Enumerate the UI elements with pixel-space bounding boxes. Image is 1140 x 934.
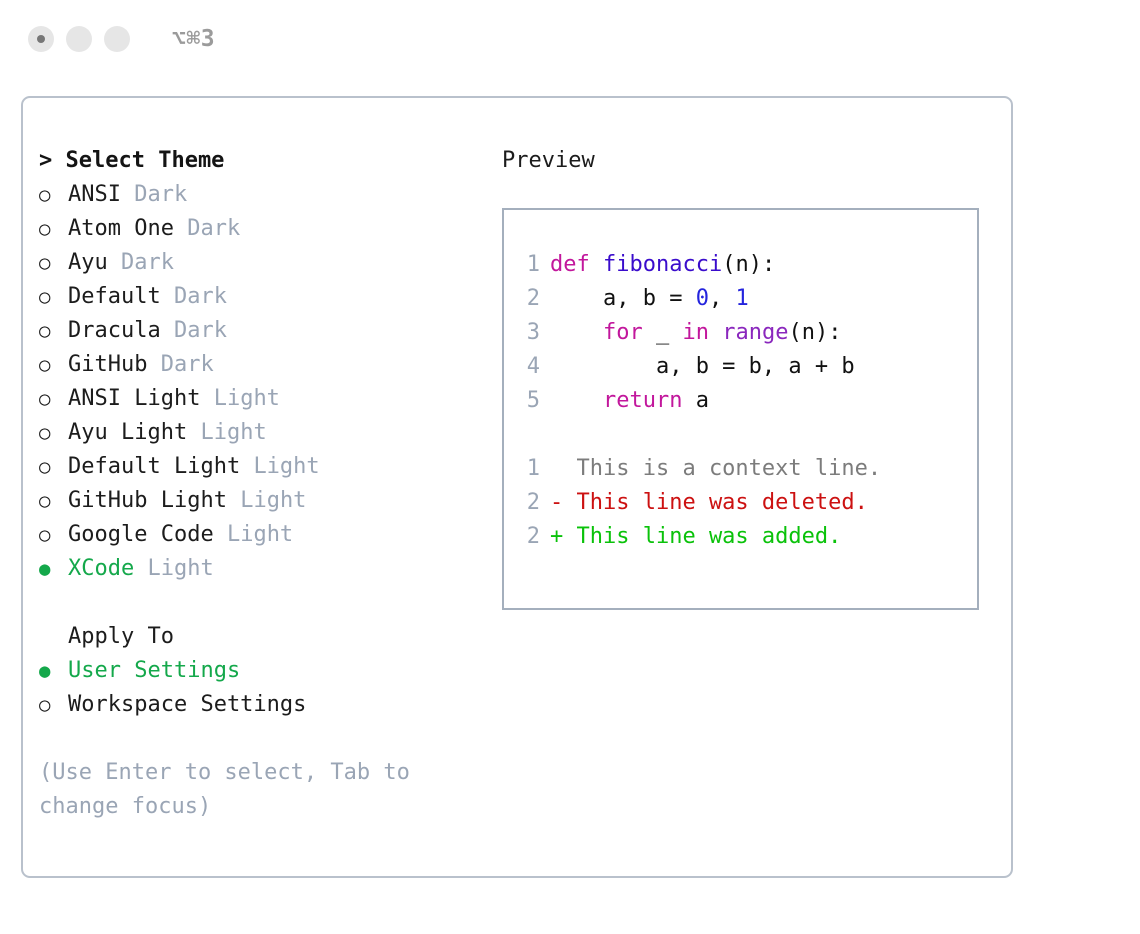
keyboard-hint-text: (Use Enter to select, Tab to change focu… [39,756,459,824]
code-line: 5 return a [504,384,977,418]
theme-option-name: GitHub Light [68,484,227,518]
theme-option-name: XCode [68,552,134,586]
preview-column: Preview 1def fibonacci(n):2 a, b = 0, 13… [502,144,992,610]
radio-unselected-icon: ○ [39,382,68,416]
code-token-plain: _ [643,320,683,345]
radio-unselected-icon: ○ [39,688,68,722]
theme-option-spacer [121,178,134,212]
diff-line-number: 2 [504,486,550,520]
diff-line-ctx: 1 This is a context line. [504,452,977,486]
window-dot-active-icon[interactable] [28,26,54,52]
preview-box: 1def fibonacci(n):2 a, b = 0, 13 for _ i… [502,208,979,610]
code-token-plain: a [682,388,709,413]
apply-to-option-name: Workspace Settings [68,688,306,722]
theme-option-kind: Dark [121,246,174,280]
theme-option-kind: Dark [187,212,240,246]
theme-option-spacer [227,484,240,518]
theme-option-ansi[interactable]: ○ANSI Dark [39,178,509,212]
code-line-number: 5 [504,384,550,418]
theme-option-spacer [134,552,147,586]
code-token-num: 0 [696,286,709,311]
code-token-pun: , [709,286,736,311]
select-theme-header: > Select Theme [39,144,509,178]
code-line-text: def fibonacci(n): [550,248,775,282]
code-token-pun: (n): [788,320,841,345]
apply-to-option-name: User Settings [68,654,240,688]
theme-option-spacer [214,518,227,552]
code-line-text: a, b = b, a + b [550,350,855,384]
section-spacer [39,586,509,620]
theme-option-github[interactable]: ○GitHub Dark [39,348,509,382]
theme-option-kind: Light [147,552,213,586]
theme-list[interactable]: ○ANSI Dark○Atom One Dark○Ayu Dark○Defaul… [39,178,509,586]
theme-option-google-code[interactable]: ○Google Code Light [39,518,509,552]
code-token-kw: for [603,320,643,345]
diff-sample: 1 This is a context line.2- This line wa… [504,452,977,554]
theme-option-name: ANSI Light [68,382,200,416]
theme-option-kind: Light [227,518,293,552]
code-token-pun: (n): [722,252,775,277]
code-line: 1def fibonacci(n): [504,248,977,282]
window-dot-second-icon[interactable] [66,26,92,52]
theme-option-spacer [108,246,121,280]
diff-line-text: + This line was added. [550,520,841,554]
title-bar: ⌥⌘3 [0,0,1140,78]
code-token-fn: fibonacci [603,252,722,277]
code-token-num: 1 [735,286,748,311]
radio-unselected-icon: ○ [39,280,68,314]
theme-option-ayu[interactable]: ○Ayu Dark [39,246,509,280]
theme-option-kind: Dark [134,178,187,212]
radio-unselected-icon: ○ [39,246,68,280]
diff-line-number: 1 [504,452,550,486]
app-window: ⌥⌘3 > Select Theme ○ANSI Dark○Atom One D… [0,0,1140,934]
theme-option-name: ANSI [68,178,121,212]
code-token-plain [550,320,603,345]
code-line-text: return a [550,384,709,418]
theme-option-default[interactable]: ○Default Dark [39,280,509,314]
code-line: 2 a, b = 0, 1 [504,282,977,316]
theme-option-name: GitHub [68,348,147,382]
theme-option-ansi-light[interactable]: ○ANSI Light Light [39,382,509,416]
theme-option-default-light[interactable]: ○Default Light Light [39,450,509,484]
code-token-plain: a, b = [550,286,696,311]
theme-option-xcode[interactable]: ●XCode Light [39,552,509,586]
theme-selector-column: > Select Theme ○ANSI Dark○Atom One Dark○… [39,144,509,824]
window-dot-third-icon[interactable] [104,26,130,52]
main-panel: > Select Theme ○ANSI Dark○Atom One Dark○… [21,96,1013,878]
theme-option-kind: Light [240,484,306,518]
code-token-plain: a, b = b, a + b [550,354,855,379]
apply-to-option-workspace-settings[interactable]: ○Workspace Settings [39,688,509,722]
apply-to-list[interactable]: ●User Settings○Workspace Settings [39,654,509,722]
preview-gap [504,418,977,452]
theme-option-kind: Dark [161,348,214,382]
keyboard-shortcut-label: ⌥⌘3 [172,28,215,51]
code-token-kw: in [682,320,709,345]
radio-selected-icon: ● [39,552,68,586]
theme-option-dracula[interactable]: ○Dracula Dark [39,314,509,348]
code-token-kw: def [550,252,603,277]
theme-option-spacer [147,348,160,382]
radio-unselected-icon: ○ [39,314,68,348]
theme-option-github-light[interactable]: ○GitHub Light Light [39,484,509,518]
theme-option-spacer [161,280,174,314]
theme-option-ayu-light[interactable]: ○Ayu Light Light [39,416,509,450]
theme-option-spacer [161,314,174,348]
theme-option-spacer [200,382,213,416]
code-token-call: range [722,320,788,345]
theme-option-name: Default [68,280,161,314]
theme-option-atom-one[interactable]: ○Atom One Dark [39,212,509,246]
preview-title: Preview [502,144,992,178]
theme-option-kind: Dark [174,314,227,348]
apply-to-option-user-settings[interactable]: ●User Settings [39,654,509,688]
diff-line-text: This is a context line. [550,452,881,486]
code-line-number: 4 [504,350,550,384]
code-line-text: for _ in range(n): [550,316,841,350]
diff-line-number: 2 [504,520,550,554]
radio-selected-icon: ● [39,654,68,688]
apply-to-header: Apply To [39,620,509,654]
code-line: 4 a, b = b, a + b [504,350,977,384]
code-line: 3 for _ in range(n): [504,316,977,350]
theme-option-name: Google Code [68,518,214,552]
theme-option-spacer [187,416,200,450]
window-dot-active-inner-icon [37,35,45,43]
code-line-number: 2 [504,282,550,316]
code-line-number: 1 [504,248,550,282]
theme-option-name: Dracula [68,314,161,348]
theme-option-kind: Light [253,450,319,484]
code-token-kw: return [603,388,682,413]
diff-line-text: - This line was deleted. [550,486,868,520]
code-line-text: a, b = 0, 1 [550,282,749,316]
radio-unselected-icon: ○ [39,518,68,552]
diff-line-add: 2+ This line was added. [504,520,977,554]
theme-option-spacer [240,450,253,484]
theme-option-name: Default Light [68,450,240,484]
diff-line-del: 2- This line was deleted. [504,486,977,520]
code-token-plain [709,320,722,345]
theme-option-name: Ayu [68,246,108,280]
window-controls [28,26,130,52]
theme-option-name: Ayu Light [68,416,187,450]
theme-option-kind: Light [214,382,280,416]
radio-unselected-icon: ○ [39,484,68,518]
code-sample: 1def fibonacci(n):2 a, b = 0, 13 for _ i… [504,248,977,418]
code-line-number: 3 [504,316,550,350]
theme-option-name: Atom One [68,212,174,246]
theme-option-kind: Light [200,416,266,450]
code-token-plain [550,388,603,413]
radio-unselected-icon: ○ [39,450,68,484]
theme-option-spacer [174,212,187,246]
radio-unselected-icon: ○ [39,178,68,212]
radio-unselected-icon: ○ [39,416,68,450]
theme-option-kind: Dark [174,280,227,314]
radio-unselected-icon: ○ [39,348,68,382]
radio-unselected-icon: ○ [39,212,68,246]
